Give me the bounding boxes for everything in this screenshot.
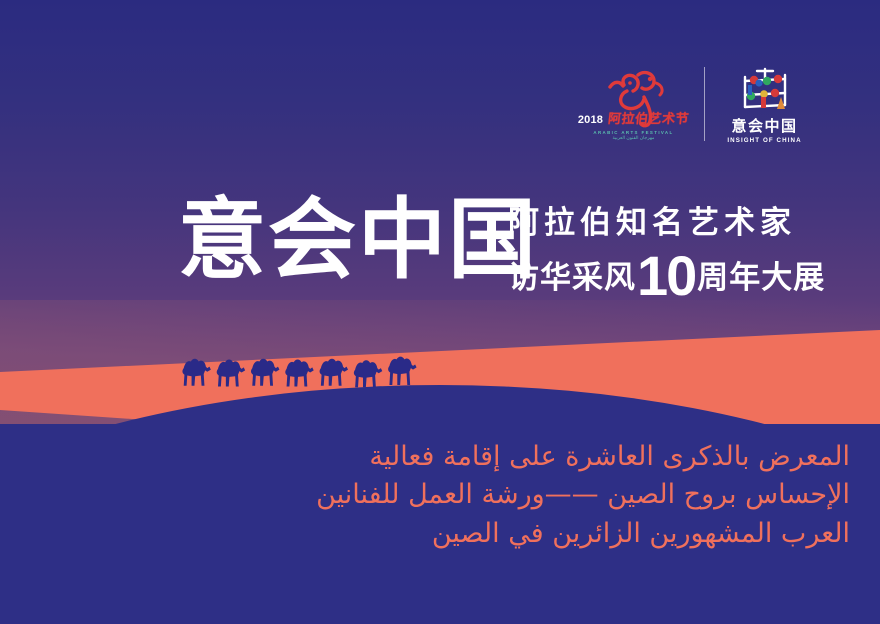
- camel-caravan-icon: [178, 352, 428, 396]
- abacus-lattice-mark-icon: [737, 65, 793, 115]
- subtitle-line-2-prefix: 访华采风: [508, 263, 636, 294]
- lattice-beads-icon: [737, 65, 793, 115]
- title-block: 意会中国 阿拉伯知名艺术家 访华采风 10 周年大展: [178, 196, 818, 316]
- arabic-line-2: الإحساس بروح الصين ——ورشة العمل للفنانين: [60, 476, 850, 514]
- arabic-description: المعرض بالذكرى العاشرة على إقامة فعالية …: [60, 438, 850, 553]
- festival-name-ar: مهرجان الفنون العربية: [613, 135, 655, 141]
- subtitle-line-2: 访华采风 10 周年大展: [508, 254, 825, 302]
- festival-year: 2018: [578, 115, 603, 126]
- page-title: 意会中国: [178, 196, 538, 284]
- logo-bar: 2018 阿拉伯艺术节 ARABIC ARTS FESTIVAL مهرجان …: [576, 52, 812, 156]
- logo-divider: [704, 67, 705, 141]
- insight-name-cn: 意会中国: [731, 119, 797, 134]
- poster-canvas: 2018 阿拉伯艺术节 ARABIC ARTS FESTIVAL مهرجان …: [0, 0, 880, 624]
- arabic-line-1: المعرض بالذكرى العاشرة على إقامة فعالية: [60, 438, 850, 476]
- insight-logo: 意会中国 INSIGHT OF CHINA: [719, 65, 811, 144]
- subtitle-line-1: 阿拉伯知名艺术家: [508, 208, 796, 239]
- subtitle-line-2-suffix: 周年大展: [697, 263, 825, 294]
- festival-wordmark: 2018 阿拉伯艺术节: [578, 113, 689, 126]
- anniversary-number: 10: [637, 252, 695, 300]
- insight-name-en: INSIGHT OF CHINA: [727, 137, 801, 144]
- camel-caravan: [178, 352, 428, 396]
- arabic-line-3: العرب المشهورين الزائرين في الصين: [60, 515, 850, 553]
- festival-logo: 2018 阿拉伯艺术节 ARABIC ARTS FESTIVAL مهرجان …: [578, 67, 690, 141]
- festival-name-cn: 阿拉伯艺术节: [607, 113, 689, 126]
